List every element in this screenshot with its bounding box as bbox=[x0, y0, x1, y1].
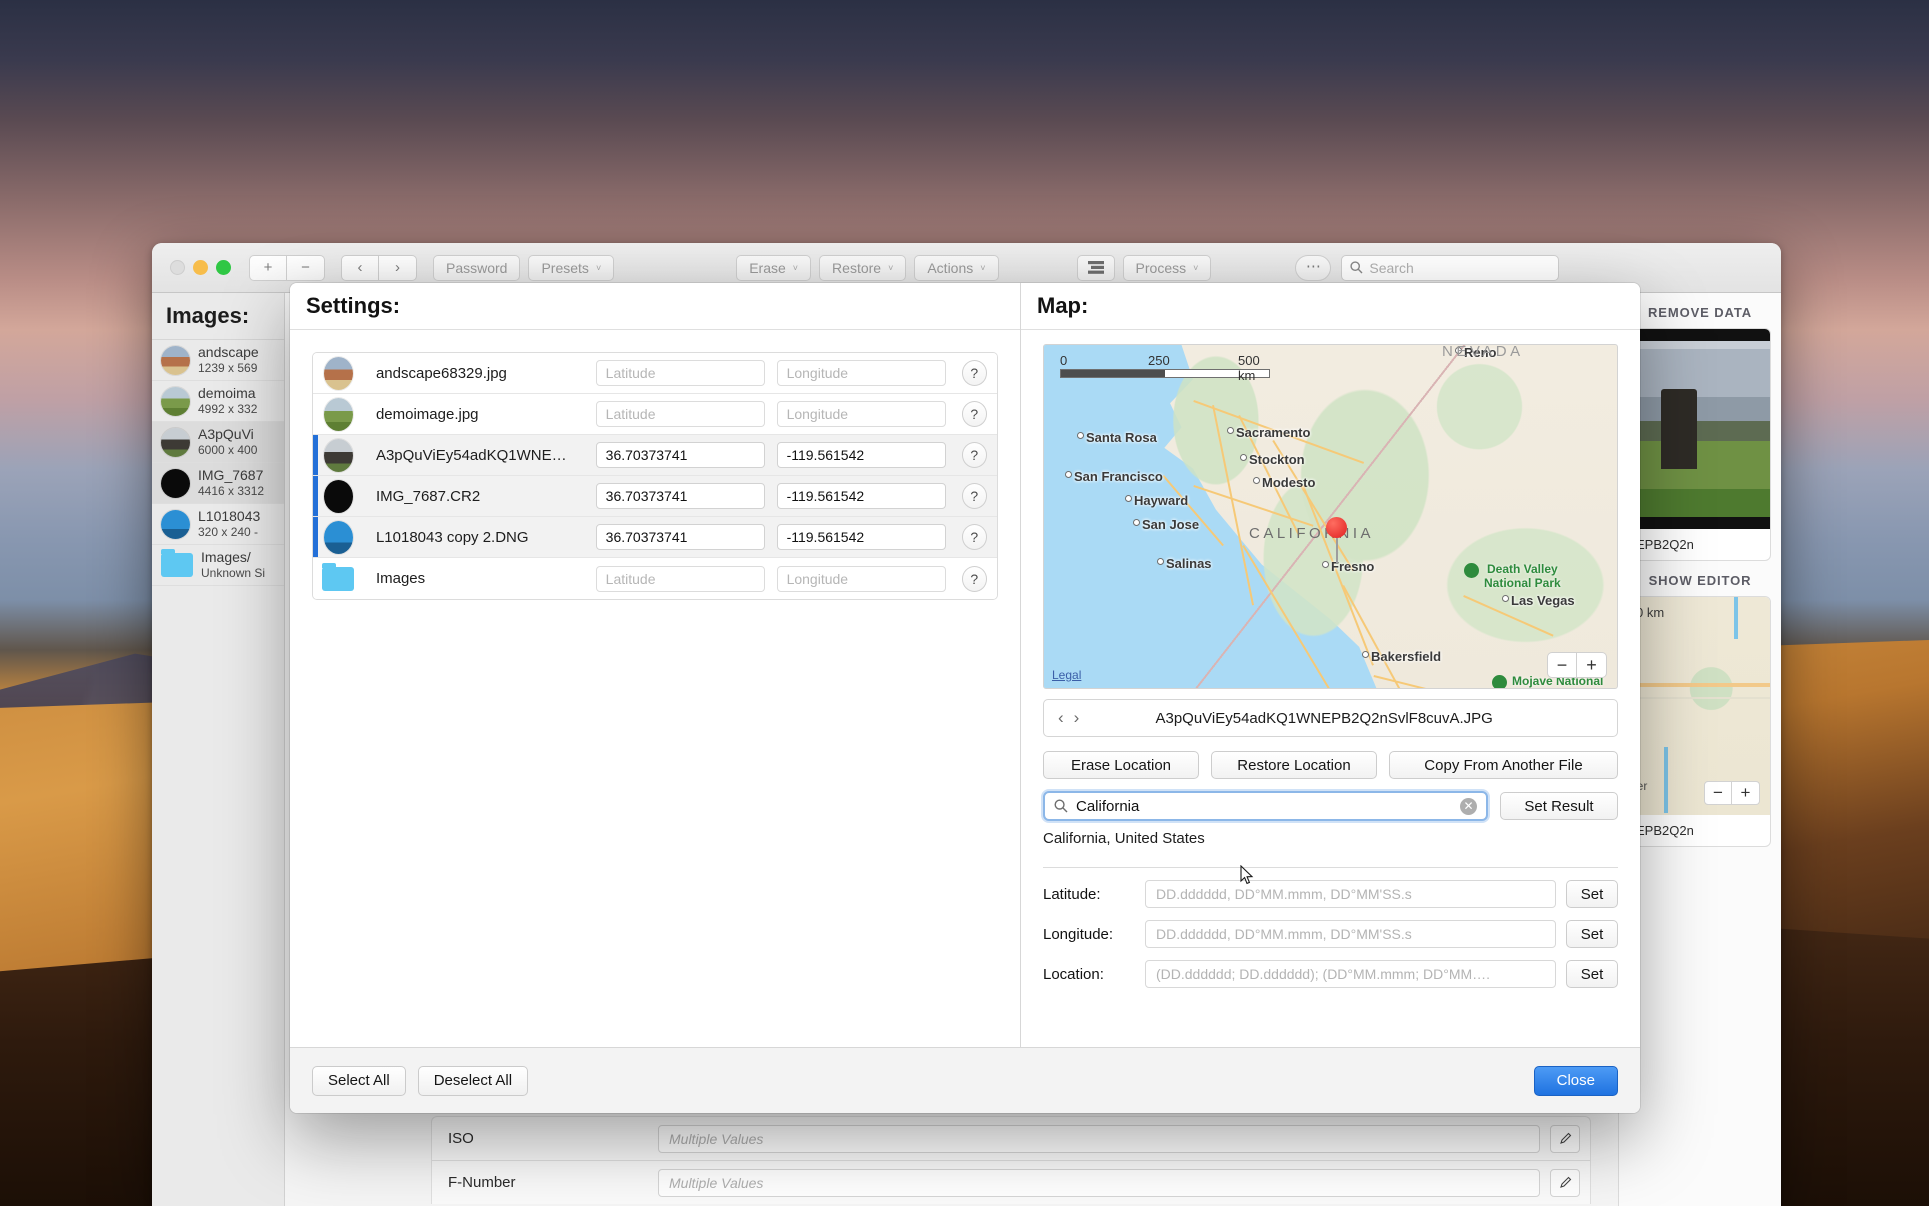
previous-file-button[interactable]: ‹ bbox=[1058, 708, 1064, 728]
presets-button[interactable]: Presets ˅ bbox=[528, 255, 614, 281]
toolbar-search-input[interactable]: Search bbox=[1341, 255, 1559, 281]
file-name: demoimage.jpg bbox=[376, 406, 584, 423]
longitude-input[interactable]: -119.561542 bbox=[777, 442, 946, 468]
manual-field-input[interactable]: (DD.dddddd; DD.dddddd); (DD°MM.mmm; DD°M… bbox=[1145, 960, 1556, 988]
file-navigator[interactable]: ‹ › A3pQuViEy54adKQ1WNEPB2Q2nSvlF8cuvA.J… bbox=[1043, 699, 1618, 737]
process-button[interactable]: Process ˅ bbox=[1123, 255, 1212, 281]
dialog-body: Settings: andscape68329.jpgLatitudeLongi… bbox=[290, 283, 1640, 1047]
map-zoom-in-button[interactable]: + bbox=[1577, 652, 1607, 678]
manual-field-label: Location: bbox=[1043, 966, 1135, 983]
longitude-input[interactable]: Longitude bbox=[777, 360, 946, 386]
iso-input[interactable]: Multiple Values bbox=[658, 1125, 1540, 1153]
copy-from-another-file-button[interactable]: Copy From Another File bbox=[1389, 751, 1618, 779]
show-editor-title: SHOW EDITOR bbox=[1619, 561, 1781, 596]
map-city-label: Salinas bbox=[1166, 556, 1212, 571]
map-city-label: Sacramento bbox=[1236, 425, 1310, 440]
map-city-label: Stockton bbox=[1249, 452, 1305, 467]
longitude-input[interactable]: Longitude bbox=[777, 566, 946, 592]
add-remove-segment[interactable]: + − bbox=[249, 255, 325, 281]
sidebar-item-meta: Unknown Si bbox=[201, 566, 265, 581]
sidebar-item[interactable]: andscape1239 x 569 bbox=[152, 340, 284, 381]
pin-head-icon bbox=[1326, 517, 1347, 538]
latitude-input[interactable]: Latitude bbox=[596, 566, 765, 592]
map-city-dot-icon bbox=[1157, 558, 1164, 565]
nav-segment[interactable]: ‹ › bbox=[341, 255, 417, 281]
sidebar-item-meta: 6000 x 400 bbox=[198, 443, 257, 458]
latitude-input[interactable]: Latitude bbox=[596, 360, 765, 386]
map-legal-link[interactable]: Legal bbox=[1052, 668, 1081, 682]
metadata-row-iso[interactable]: ISO Multiple Values bbox=[431, 1116, 1591, 1160]
map-city-dot-icon bbox=[1240, 454, 1247, 461]
map-road bbox=[1302, 485, 1374, 666]
preview-photo-caption: EPB2Q2n bbox=[1630, 529, 1770, 560]
map-zoom-out-button[interactable]: − bbox=[1547, 652, 1577, 678]
folder-icon bbox=[322, 567, 354, 591]
add-button[interactable]: + bbox=[249, 255, 287, 281]
dialog-footer: Select All Deselect All Close bbox=[290, 1047, 1640, 1113]
map-road bbox=[1193, 485, 1314, 527]
list-view-button[interactable] bbox=[1077, 255, 1115, 281]
help-button[interactable]: ? bbox=[962, 483, 988, 509]
more-options-button[interactable]: ⋯ bbox=[1295, 255, 1331, 281]
password-button[interactable]: Password bbox=[433, 255, 520, 281]
set-result-button[interactable]: Set Result bbox=[1500, 792, 1618, 820]
images-sidebar: Images: andscape1239 x 569demoima4992 x … bbox=[152, 293, 285, 1206]
map-city-dot-icon bbox=[1077, 432, 1084, 439]
map-city-dot-icon bbox=[1125, 495, 1132, 502]
thumbnail-icon bbox=[161, 387, 190, 416]
map-zoom-controls[interactable]: − + bbox=[1547, 652, 1607, 678]
file-name: A3pQuViEy54adKQ1WNE… bbox=[376, 447, 584, 464]
inspector-mini-map[interactable]: 0 km ier − + bbox=[1630, 597, 1770, 815]
chevron-down-icon: ˅ bbox=[596, 263, 601, 273]
fnumber-edit-button[interactable] bbox=[1550, 1169, 1580, 1197]
chevron-down-icon: ˅ bbox=[980, 263, 985, 273]
sidebar-list[interactable]: andscape1239 x 569demoima4992 x 332A3pQu… bbox=[152, 340, 284, 586]
file-name: Images bbox=[376, 570, 584, 587]
chevron-down-icon: ˅ bbox=[793, 263, 798, 273]
current-filename: A3pQuViEy54adKQ1WNEPB2Q2nSvlF8cuvA.JPG bbox=[1079, 710, 1569, 727]
sidebar-item[interactable]: IMG_76874416 x 3312 bbox=[152, 463, 284, 504]
sidebar-item-label: Images/ bbox=[201, 549, 265, 567]
thumbnail-icon bbox=[324, 357, 353, 390]
help-button[interactable]: ? bbox=[962, 360, 988, 386]
map-city-dot-icon bbox=[1253, 477, 1260, 484]
map-city-dot-icon bbox=[1065, 471, 1072, 478]
sidebar-item-label: IMG_7687 bbox=[198, 467, 264, 485]
clear-search-icon[interactable]: ✕ bbox=[1460, 798, 1477, 815]
mini-map-zoom-controls[interactable]: − + bbox=[1704, 781, 1760, 805]
minimize-window-icon[interactable] bbox=[193, 260, 208, 275]
row-thumbnail-wrap bbox=[313, 439, 364, 472]
row-thumbnail-wrap bbox=[313, 521, 364, 554]
longitude-input[interactable]: -119.561542 bbox=[777, 483, 946, 509]
sidebar-item-text: andscape1239 x 569 bbox=[198, 344, 259, 377]
list-view-icon bbox=[1088, 261, 1104, 274]
row-thumbnail-wrap bbox=[313, 480, 364, 513]
chevron-down-icon: ˅ bbox=[1193, 263, 1198, 273]
map-scale-bar: 0 250 500 km bbox=[1060, 353, 1270, 378]
password-label: Password bbox=[446, 260, 507, 276]
search-icon bbox=[1054, 799, 1068, 813]
mini-map-zoom-in-button[interactable]: + bbox=[1732, 781, 1760, 805]
pencil-icon bbox=[1559, 1176, 1572, 1189]
thumbnail-icon bbox=[161, 428, 190, 457]
map-city-label: Las Vegas bbox=[1511, 593, 1575, 608]
park-marker-icon bbox=[1492, 675, 1507, 689]
thumbnail-icon bbox=[161, 469, 190, 498]
sidebar-item[interactable]: demoima4992 x 332 bbox=[152, 381, 284, 422]
inspector-map-caption: EPB2Q2n bbox=[1630, 815, 1770, 846]
sidebar-item-label: L1018043 bbox=[198, 508, 260, 526]
help-button[interactable]: ? bbox=[962, 566, 988, 592]
file-coordinate-table[interactable]: andscape68329.jpgLatitudeLongitude?demoi… bbox=[312, 352, 998, 600]
map-pane-title: Map: bbox=[1021, 283, 1640, 330]
remove-button[interactable]: − bbox=[287, 255, 325, 281]
set-button[interactable]: Set bbox=[1566, 880, 1618, 908]
map-city-label: Hayward bbox=[1134, 493, 1188, 508]
table-row[interactable]: IMG_7687.CR236.70373741-119.561542? bbox=[313, 476, 997, 517]
forward-button[interactable]: › bbox=[379, 255, 417, 281]
map-content: RenoSacramentoSanta RosaStocktonSan Fran… bbox=[1021, 330, 1640, 1047]
latitude-input[interactable]: 36.70373741 bbox=[596, 442, 765, 468]
manual-coordinate-row: Location:(DD.dddddd; DD.dddddd); (DD°MM.… bbox=[1043, 960, 1618, 988]
close-window-icon[interactable] bbox=[170, 260, 185, 275]
map-region-label: CALIFORNIA bbox=[1249, 525, 1374, 542]
location-search-value: California bbox=[1076, 798, 1452, 815]
inspector-panel: REMOVE DATA EPB2Q2n SHOW EDITOR 0 km ier bbox=[1618, 293, 1781, 1206]
sidebar-title: Images: bbox=[152, 293, 284, 340]
settings-pane-title: Settings: bbox=[290, 283, 1020, 330]
file-name: L1018043 copy 2.DNG bbox=[376, 529, 584, 546]
restore-location-button[interactable]: Restore Location bbox=[1211, 751, 1377, 779]
park-marker-icon bbox=[1464, 563, 1479, 578]
latitude-input[interactable]: 36.70373741 bbox=[596, 524, 765, 550]
sidebar-item-text: L1018043320 x 240 - bbox=[198, 508, 260, 541]
sidebar-item[interactable]: A3pQuVi6000 x 400 bbox=[152, 422, 284, 463]
toolbar-search-placeholder: Search bbox=[1369, 260, 1413, 276]
map-city-dot-icon bbox=[1227, 427, 1234, 434]
deselect-all-button[interactable]: Deselect All bbox=[418, 1066, 528, 1096]
restore-label: Restore bbox=[832, 260, 881, 276]
sidebar-item[interactable]: Images/Unknown Si bbox=[152, 545, 284, 586]
fnumber-input[interactable]: Multiple Values bbox=[658, 1169, 1540, 1197]
sidebar-item-text: IMG_76874416 x 3312 bbox=[198, 467, 264, 500]
file-name: andscape68329.jpg bbox=[376, 365, 584, 382]
sidebar-item[interactable]: L1018043320 x 240 - bbox=[152, 504, 284, 545]
map-city-dot-icon bbox=[1502, 595, 1509, 602]
map-scale-mid: 250 bbox=[1148, 353, 1170, 368]
thumbnail-icon bbox=[324, 439, 353, 472]
sidebar-item-meta: 4992 x 332 bbox=[198, 402, 257, 417]
sidebar-item-text: demoima4992 x 332 bbox=[198, 385, 257, 418]
map-scale-max: 500 km bbox=[1238, 353, 1270, 383]
manual-field-label: Latitude: bbox=[1043, 886, 1135, 903]
manual-field-input[interactable]: DD.dddddd, DD°MM.mmm, DD°MM'SS.s bbox=[1145, 920, 1556, 948]
restore-button[interactable]: Restore ˅ bbox=[819, 255, 906, 281]
thumbnail-icon bbox=[324, 480, 353, 513]
settings-pane: Settings: andscape68329.jpgLatitudeLongi… bbox=[290, 283, 1021, 1047]
sidebar-item-text: Images/Unknown Si bbox=[201, 549, 265, 582]
folder-icon bbox=[161, 553, 193, 577]
window-controls[interactable] bbox=[170, 260, 231, 275]
maximize-window-icon[interactable] bbox=[216, 260, 231, 275]
pencil-icon bbox=[1559, 1132, 1572, 1145]
sidebar-item-meta: 320 x 240 - bbox=[198, 525, 260, 540]
set-button[interactable]: Set bbox=[1566, 960, 1618, 988]
location-pin[interactable] bbox=[1326, 517, 1347, 563]
show-editor-card[interactable]: 0 km ier − + EPB2Q2n bbox=[1629, 596, 1771, 847]
location-map[interactable]: RenoSacramentoSanta RosaStocktonSan Fran… bbox=[1043, 344, 1618, 689]
table-row[interactable]: andscape68329.jpgLatitudeLongitude? bbox=[313, 353, 997, 394]
chevron-down-icon: ˅ bbox=[888, 263, 893, 273]
table-row[interactable]: demoimage.jpgLatitudeLongitude? bbox=[313, 394, 997, 435]
manual-field-input[interactable]: DD.dddddd, DD°MM.mmm, DD°MM'SS.s bbox=[1145, 880, 1556, 908]
help-button[interactable]: ? bbox=[962, 401, 988, 427]
map-scale-0: 0 bbox=[1060, 353, 1067, 368]
iso-label: ISO bbox=[448, 1130, 648, 1147]
preview-photo bbox=[1630, 329, 1770, 529]
sidebar-item-label: demoima bbox=[198, 385, 257, 403]
help-button[interactable]: ? bbox=[962, 442, 988, 468]
search-result-text: California, United States bbox=[1043, 830, 1618, 847]
table-row[interactable]: L1018043 copy 2.DNG36.70373741-119.56154… bbox=[313, 517, 997, 558]
map-city-label: Modesto bbox=[1262, 475, 1315, 490]
close-button[interactable]: Close bbox=[1534, 1066, 1618, 1096]
actions-label: Actions bbox=[927, 260, 973, 276]
map-city-dot-icon bbox=[1133, 519, 1140, 526]
map-road bbox=[1242, 545, 1334, 689]
manual-coordinate-entry: Latitude:DD.dddddd, DD°MM.mmm, DD°MM'SS.… bbox=[1043, 868, 1618, 988]
row-thumbnail-wrap bbox=[313, 357, 364, 390]
fnumber-label: F-Number bbox=[448, 1174, 648, 1191]
metadata-form: ISO Multiple Values F-Number Multiple Va… bbox=[431, 1116, 1591, 1206]
metadata-row-fnumber[interactable]: F-Number Multiple Values bbox=[431, 1160, 1591, 1204]
remove-data-title: REMOVE DATA bbox=[1619, 293, 1781, 328]
latitude-input[interactable]: Latitude bbox=[596, 401, 765, 427]
map-road bbox=[1342, 585, 1404, 689]
mouse-cursor bbox=[1240, 865, 1254, 885]
sidebar-item-label: A3pQuVi bbox=[198, 426, 257, 444]
map-city-dot-icon bbox=[1362, 651, 1369, 658]
file-name: IMG_7687.CR2 bbox=[376, 488, 584, 505]
help-button[interactable]: ? bbox=[962, 524, 988, 550]
sidebar-item-meta: 1239 x 569 bbox=[198, 361, 259, 376]
mini-map-scale: 0 km bbox=[1636, 605, 1664, 620]
map-city-label: San Jose bbox=[1142, 517, 1199, 532]
location-search-row: California ✕ Set Result bbox=[1043, 791, 1618, 821]
remove-data-card[interactable]: EPB2Q2n bbox=[1629, 328, 1771, 561]
location-actions: Erase Location Restore Location Copy Fro… bbox=[1043, 751, 1618, 779]
presets-label: Presets bbox=[541, 260, 588, 276]
pin-stick-icon bbox=[1336, 538, 1338, 563]
mini-map-zoom-out-button[interactable]: − bbox=[1704, 781, 1732, 805]
erase-location-button[interactable]: Erase Location bbox=[1043, 751, 1199, 779]
sidebar-item-text: A3pQuVi6000 x 400 bbox=[198, 426, 257, 459]
file-nav-arrows[interactable]: ‹ › bbox=[1058, 708, 1079, 728]
table-row[interactable]: A3pQuViEy54adKQ1WNE…36.70373741-119.5615… bbox=[313, 435, 997, 476]
erase-button[interactable]: Erase ˅ bbox=[736, 255, 811, 281]
map-city-label: San Francisco bbox=[1074, 469, 1163, 484]
ellipsis-icon: ⋯ bbox=[1306, 257, 1321, 275]
manual-field-label: Longitude: bbox=[1043, 926, 1135, 943]
sidebar-item-label: andscape bbox=[198, 344, 259, 362]
location-search-input[interactable]: California ✕ bbox=[1043, 791, 1488, 821]
erase-label: Erase bbox=[749, 260, 786, 276]
row-thumbnail-wrap bbox=[313, 398, 364, 431]
process-label: Process bbox=[1136, 260, 1187, 276]
thumbnail-icon bbox=[161, 510, 190, 539]
map-state-label: NEVADA bbox=[1442, 344, 1524, 360]
map-city-label: Santa Rosa bbox=[1086, 430, 1157, 445]
thumbnail-icon bbox=[161, 346, 190, 375]
settings-content: andscape68329.jpgLatitudeLongitude?demoi… bbox=[290, 330, 1020, 600]
row-thumbnail-wrap bbox=[313, 567, 364, 591]
thumbnail-icon bbox=[324, 521, 353, 554]
table-row[interactable]: ImagesLatitudeLongitude? bbox=[313, 558, 997, 599]
back-button[interactable]: ‹ bbox=[341, 255, 379, 281]
longitude-input[interactable]: Longitude bbox=[777, 401, 946, 427]
actions-button[interactable]: Actions ˅ bbox=[914, 255, 998, 281]
map-city-label: Bakersfield bbox=[1371, 649, 1441, 664]
manual-coordinate-row: Latitude:DD.dddddd, DD°MM.mmm, DD°MM'SS.… bbox=[1043, 880, 1618, 908]
search-icon bbox=[1350, 261, 1363, 274]
sidebar-item-meta: 4416 x 3312 bbox=[198, 484, 264, 499]
iso-edit-button[interactable] bbox=[1550, 1125, 1580, 1153]
thumbnail-icon bbox=[324, 398, 353, 431]
map-pane: Map: RenoSacramentoSanta RosaStocktonSan… bbox=[1021, 283, 1640, 1047]
map-park-label: Death Valley National Park bbox=[1484, 563, 1561, 591]
select-all-button[interactable]: Select All bbox=[312, 1066, 406, 1096]
set-button[interactable]: Set bbox=[1566, 920, 1618, 948]
manual-coordinate-row: Longitude:DD.dddddd, DD°MM.mmm, DD°MM'SS… bbox=[1043, 920, 1618, 948]
latitude-input[interactable]: 36.70373741 bbox=[596, 483, 765, 509]
geotagging-dialog: Settings: andscape68329.jpgLatitudeLongi… bbox=[290, 283, 1640, 1113]
longitude-input[interactable]: -119.561542 bbox=[777, 524, 946, 550]
